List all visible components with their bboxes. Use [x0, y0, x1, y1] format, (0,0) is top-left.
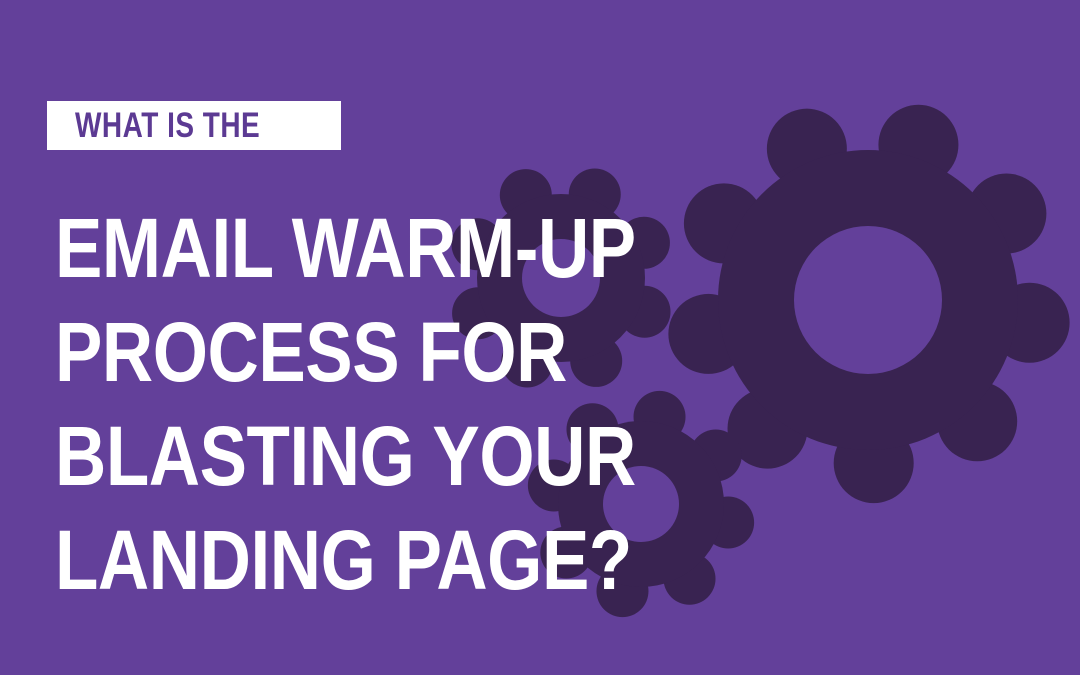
- headline-line-4: LANDING PAGE?: [55, 508, 816, 612]
- headline-line-3: BLASTING YOUR: [55, 404, 816, 508]
- eyebrow-label: WHAT IS THE: [75, 108, 260, 143]
- headline-line-1: EMAIL WARM-UP: [55, 196, 816, 300]
- gear-large-tooth: [990, 283, 1070, 363]
- headline-line-2: PROCESS FOR: [55, 300, 816, 404]
- gear-large-tooth: [767, 109, 847, 189]
- slide-canvas: WHAT IS THE EMAIL WARM-UP PROCESS FOR BL…: [0, 0, 1080, 675]
- page-title: EMAIL WARM-UP PROCESS FOR BLASTING YOUR …: [55, 196, 955, 612]
- eyebrow-badge: WHAT IS THE: [47, 101, 341, 150]
- gear-large-tooth: [966, 174, 1046, 254]
- gear-large-tooth: [878, 105, 958, 185]
